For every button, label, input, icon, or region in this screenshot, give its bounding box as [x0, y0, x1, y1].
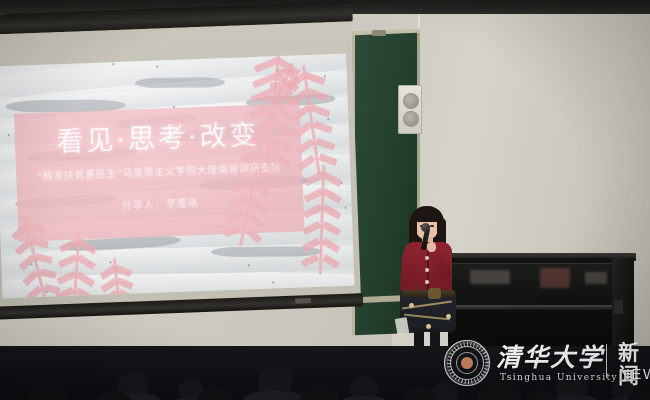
slide-title: 看见·思考·改变 [14, 117, 301, 161]
blackboard-clip [372, 30, 386, 36]
slide-presenter-line: 分享人：李璎珞 [17, 193, 303, 217]
presenter-tassel-b [446, 314, 451, 319]
presenter-tassel-c [426, 324, 431, 329]
presenter-button-2 [425, 268, 429, 272]
piano-reflection-c [585, 272, 607, 284]
projection-screen: 看见·思考·改变 “精准扶贫惠民生”马克思主义学院大理南涧调研支队 分享人：李璎… [0, 1, 364, 332]
presenter-tassel-a [409, 303, 414, 308]
presenter-hand [427, 242, 436, 252]
presenter-button-3 [425, 280, 429, 284]
piano-reflection-a [470, 270, 510, 284]
presenter-eye-right [430, 225, 434, 227]
speaker-cone-lower-icon [403, 111, 419, 127]
screenshot-root: 看见·思考·改变 “精准扶贫惠民生”马克思主义学院大理南涧调研支队 分享人：李璎… [0, 0, 650, 400]
projected-slide: 看见·思考·改变 “精准扶贫惠民生”马克思主义学院大理南涧调研支队 分享人：李璎… [0, 54, 354, 299]
wall-speaker-box [398, 85, 422, 134]
presenter-figure [396, 206, 460, 354]
screen-pull-handle [295, 298, 311, 304]
speaker-cone-upper-icon [403, 93, 419, 109]
slide-pink-panel: 看见·思考·改变 “精准扶贫惠民生”马克思主义学院大理南涧调研支队 分享人：李璎… [14, 103, 304, 241]
presenter-belt-buckle [428, 288, 441, 299]
presenter-notes [395, 317, 410, 335]
piano-hinge [614, 300, 623, 314]
slide-subtitle: “精准扶贫惠民生”马克思主义学院大理南涧调研支队 [16, 161, 302, 185]
presenter-button-1 [425, 256, 429, 260]
microphone-head-icon [421, 223, 430, 232]
presenter-hair-fringe [414, 211, 440, 222]
piano-reflection-b [540, 268, 570, 288]
piano-keyboard-lid [450, 305, 622, 310]
